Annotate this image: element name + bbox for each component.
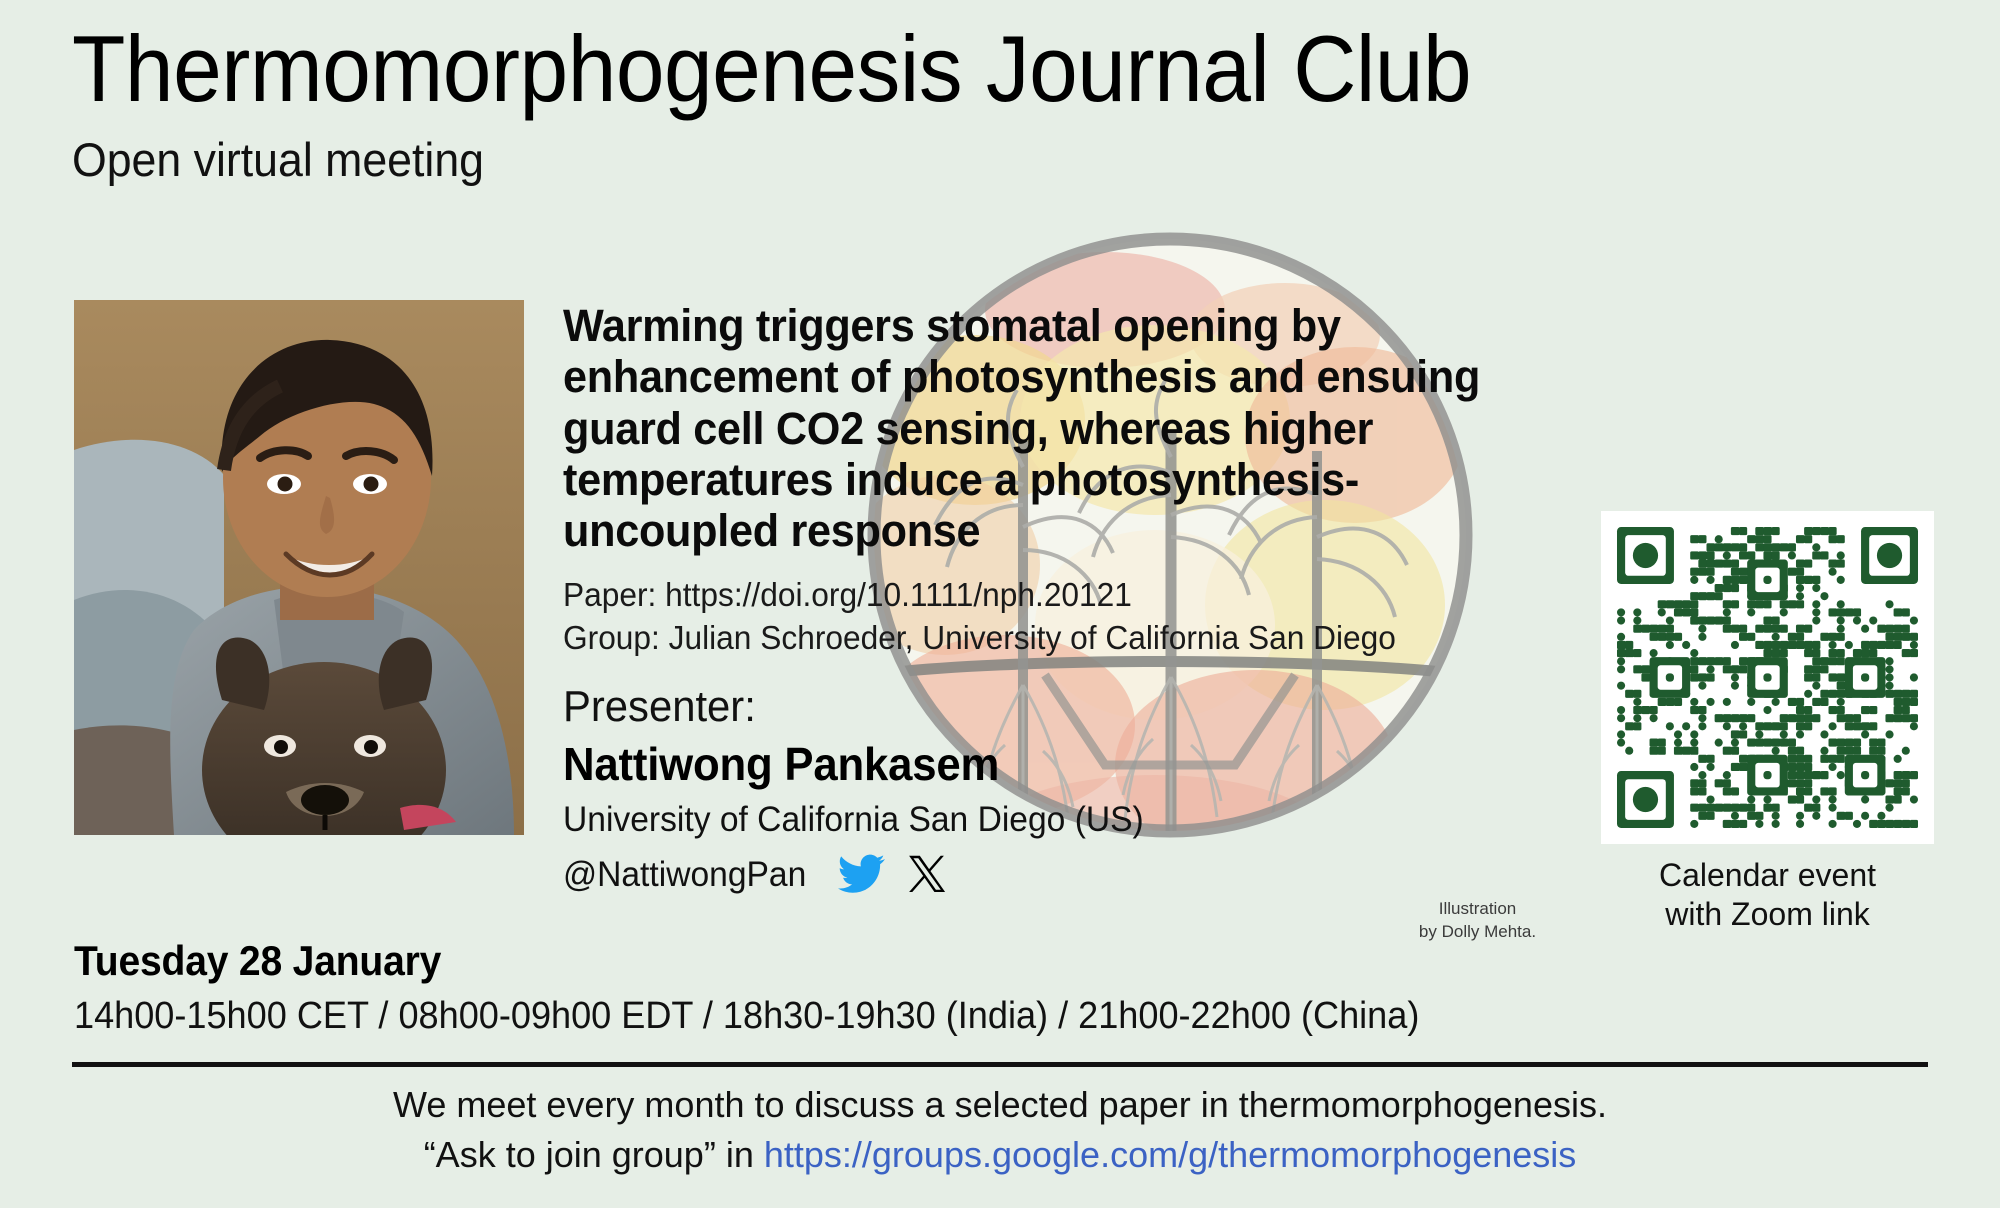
google-group-link[interactable]: https://groups.google.com/g/thermomorpho… <box>764 1134 1576 1175</box>
divider-rule <box>72 1062 1928 1067</box>
main-column: Warming triggers stomatal opening by enh… <box>563 300 1543 894</box>
poster-root: Thermomorphogenesis Journal Club Open vi… <box>0 0 2000 1208</box>
social-row: @NattiwongPan <box>563 854 1543 894</box>
page-title: Thermomorphogenesis Journal Club <box>72 22 1471 116</box>
qr-code[interactable] <box>1601 511 1934 844</box>
qr-caption-line-2: with Zoom link <box>1601 895 1934 934</box>
footer-line-2: “Ask to join group” in https://groups.go… <box>0 1132 2000 1178</box>
event-times: 14h00-15h00 CET / 08h00-09h00 EDT / 18h3… <box>74 996 1419 1038</box>
credit-line-1: Illustration <box>1390 898 1565 921</box>
qr-block: Calendar event with Zoom link <box>1601 511 1934 934</box>
presenter-photo <box>74 300 524 835</box>
qr-caption: Calendar event with Zoom link <box>1601 856 1934 934</box>
schedule-block: Tuesday 28 January 14h00-15h00 CET / 08h… <box>74 938 1490 1038</box>
paper-doi-line: Paper: https://doi.org/10.1111/nph.20121 <box>563 574 1504 616</box>
page-subtitle: Open virtual meeting <box>72 136 1501 183</box>
footer-line-1: We meet every month to discuss a selecte… <box>0 1082 2000 1128</box>
paper-meta: Paper: https://doi.org/10.1111/nph.20121… <box>563 574 1543 658</box>
qr-caption-line-1: Calendar event <box>1601 856 1934 895</box>
twitter-icon[interactable] <box>838 854 886 894</box>
footer: We meet every month to discuss a selecte… <box>0 1082 2000 1178</box>
event-date: Tuesday 28 January <box>74 938 1391 984</box>
x-icon[interactable] <box>908 854 946 894</box>
presenter-handle: @NattiwongPan <box>563 857 806 892</box>
header: Thermomorphogenesis Journal Club Open vi… <box>72 22 1576 183</box>
illustration-credit: Illustration by Dolly Mehta. <box>1390 898 1565 944</box>
presenter-label: Presenter: <box>563 683 1494 731</box>
paper-group-line: Group: Julian Schroeder, University of C… <box>563 617 1504 659</box>
paper-title: Warming triggers stomatal opening by enh… <box>563 300 1504 556</box>
presenter-name: Nattiwong Pankasem <box>563 739 1494 790</box>
footer-line-2-prefix: “Ask to join group” in <box>424 1134 764 1175</box>
presenter-affiliation: University of California San Diego (US) <box>563 800 1504 840</box>
